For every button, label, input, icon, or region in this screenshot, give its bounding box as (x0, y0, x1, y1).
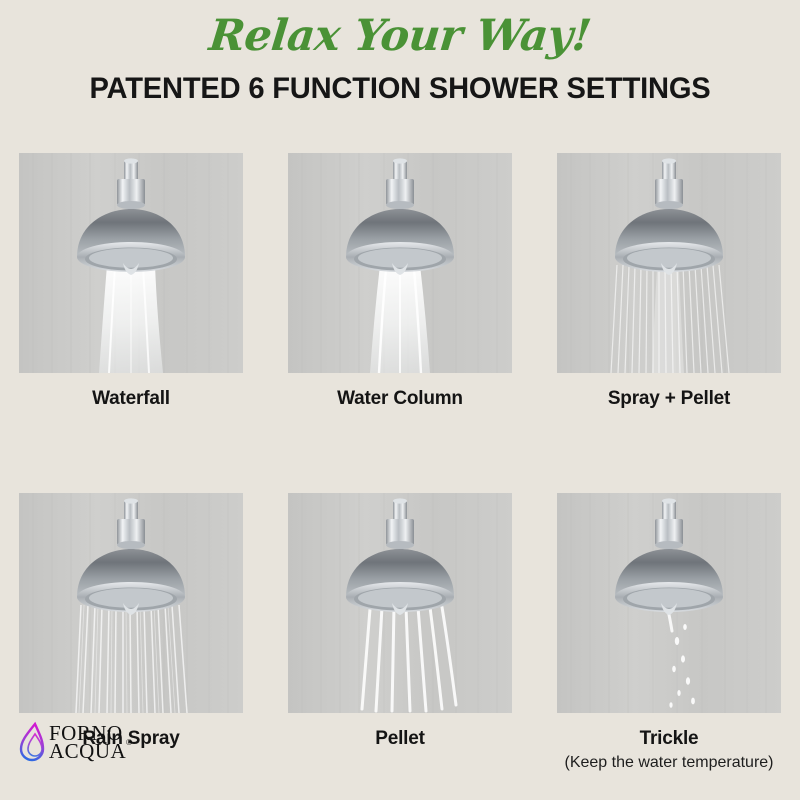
setting-card-water-column[interactable]: Water Column (288, 153, 512, 410)
brand-logo[interactable]: FORNO ACQUA ® (18, 720, 132, 764)
water-droplet-icon (18, 720, 46, 764)
brand-line-2: ACQUA (49, 742, 126, 760)
setting-note: (Keep the water temperature) (557, 752, 781, 773)
product-image-water-column (288, 153, 512, 373)
settings-row-2: Rain Spray (19, 493, 781, 773)
product-image-trickle (557, 493, 781, 713)
registered-trademark-icon: ® (126, 738, 132, 747)
page-title: PATENTED 6 FUNCTION SHOWER SETTINGS (12, 70, 788, 108)
setting-card-waterfall[interactable]: Waterfall (19, 153, 243, 410)
setting-card-trickle[interactable]: Trickle (Keep the water temperature) (557, 493, 781, 773)
product-image-spray-pellet (557, 153, 781, 373)
script-headline: Relax Your Way! (0, 10, 800, 62)
setting-label: Spray + Pellet (557, 387, 781, 410)
settings-grid: Waterfall (19, 153, 781, 773)
infographic-page: Relax Your Way! PATENTED 6 FUNCTION SHOW… (0, 0, 800, 800)
setting-label: Pellet (288, 727, 512, 750)
product-image-rain-spray (19, 493, 243, 713)
setting-card-spray-pellet[interactable]: Spray + Pellet (557, 153, 781, 410)
setting-label: Trickle (557, 727, 781, 750)
settings-row-1: Waterfall (19, 153, 781, 410)
product-image-waterfall (19, 153, 243, 373)
setting-card-pellet[interactable]: Pellet (288, 493, 512, 773)
product-image-pellet (288, 493, 512, 713)
brand-wordmark: FORNO ACQUA (49, 724, 126, 760)
setting-label: Water Column (288, 387, 512, 410)
setting-label: Waterfall (19, 387, 243, 410)
